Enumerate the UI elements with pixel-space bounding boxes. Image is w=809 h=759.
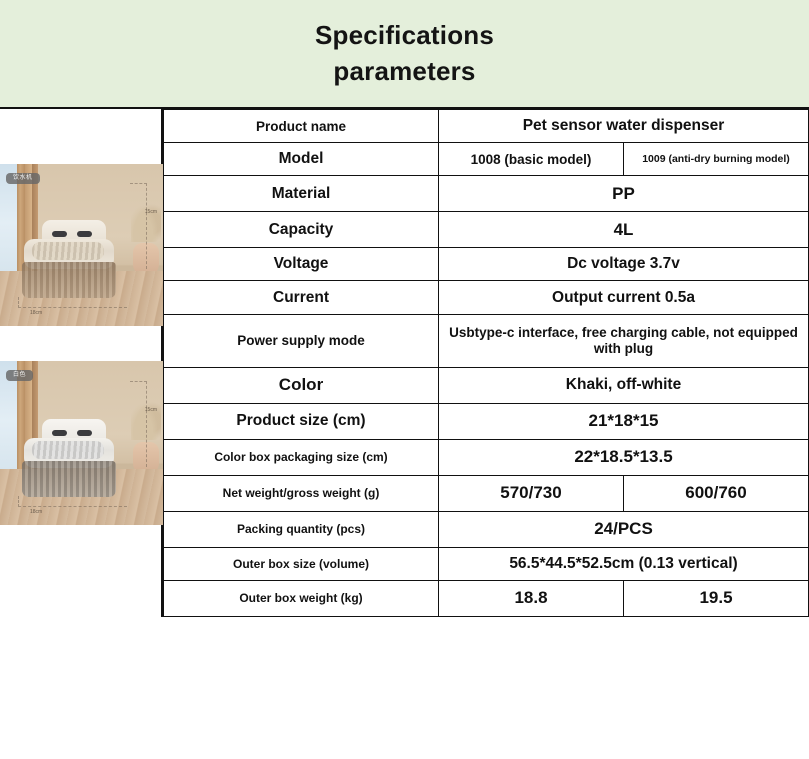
row-value-product-name: Pet sensor water dispenser [439,110,809,143]
dimension-label-height: 15cm [145,209,157,215]
water-surface [32,242,104,260]
table-row: Outer box weight (kg) 18.8 19.5 [164,580,809,616]
product-photo-off-white: 15cm 18cm 白色 [0,361,163,525]
dispenser-tank [22,461,116,497]
sensor-icon [77,430,92,436]
dimension-label-width: 18cm [30,509,42,515]
row-label-packing-quantity: Packing quantity (pcs) [164,511,439,547]
table-row: Power supply mode Usbtype-c interface, f… [164,314,809,367]
row-label-outer-box-size: Outer box size (volume) [164,547,439,580]
row-value-voltage: Dc voltage 3.7v [439,248,809,281]
page-header-banner: Specifications parameters [0,0,809,107]
water-surface [32,441,104,459]
table-row: Current Output current 0.5a [164,281,809,314]
row-value-model-b: 1009 (anti-dry burning model) [624,143,809,176]
product-photo-khaki: 15cm 18cm 饮水机 [0,164,163,326]
row-value-outer-box-weight-b: 19.5 [624,580,809,616]
row-label-net-gross-weight: Net weight/gross weight (g) [164,475,439,511]
dimension-line-horizontal [18,496,127,507]
row-value-net-gross-weight-a: 570/730 [439,475,624,511]
water-dispenser-product [16,419,126,499]
row-label-product-name: Product name [164,110,439,143]
photo-badge: 饮水机 [6,173,40,184]
page-title-line2: parameters [315,54,494,89]
table-row: Capacity 4L [164,212,809,248]
row-label-power-supply-mode: Power supply mode [164,314,439,367]
row-value-outer-box-size: 56.5*44.5*52.5cm (0.13 vertical) [439,547,809,580]
row-label-outer-box-weight: Outer box weight (kg) [164,580,439,616]
sensor-icon [77,231,92,237]
dispenser-tank [22,262,116,298]
photo-scene: 15cm 18cm [0,164,163,326]
row-label-color: Color [164,367,439,403]
row-label-color-box-size: Color box packaging size (cm) [164,439,439,475]
product-image-column: 15cm 18cm 饮水机 [0,109,163,617]
sensor-icon [52,430,67,436]
table-row: Outer box size (volume) 56.5*44.5*52.5cm… [164,547,809,580]
row-value-color-box-size: 22*18.5*13.5 [439,439,809,475]
dimension-line-horizontal [18,297,127,308]
page-title: Specifications parameters [315,18,494,88]
row-label-voltage: Voltage [164,248,439,281]
row-label-product-size: Product size (cm) [164,403,439,439]
row-value-net-gross-weight-b: 600/760 [624,475,809,511]
table-row: Material PP [164,176,809,212]
row-value-outer-box-weight-a: 18.8 [439,580,624,616]
photo-scene: 15cm 18cm [0,361,163,525]
dimension-label-width: 18cm [30,310,42,316]
row-value-product-size: 21*18*15 [439,403,809,439]
row-value-material: PP [439,176,809,212]
table-row: Product name Pet sensor water dispenser [164,110,809,143]
table-row: Color Khaki, off-white [164,367,809,403]
table-row: Model 1008 (basic model) 1009 (anti-dry … [164,143,809,176]
row-value-current: Output current 0.5a [439,281,809,314]
dimension-label-height: 15cm [145,407,157,413]
table-row: Color box packaging size (cm) 22*18.5*13… [164,439,809,475]
spec-body: 15cm 18cm 饮水机 [0,107,809,615]
table-row: Voltage Dc voltage 3.7v [164,248,809,281]
row-value-color: Khaki, off-white [439,367,809,403]
row-label-current: Current [164,281,439,314]
footer-blank-area [0,615,809,757]
row-value-packing-quantity: 24/PCS [439,511,809,547]
dimension-line-vertical [130,381,147,467]
photo-badge: 白色 [6,370,33,381]
water-dispenser-product [16,220,126,300]
table-row: Net weight/gross weight (g) 570/730 600/… [164,475,809,511]
row-value-power-supply-mode: Usbtype-c interface, free charging cable… [439,314,809,367]
dimension-line-vertical [130,183,147,268]
table-row: Packing quantity (pcs) 24/PCS [164,511,809,547]
row-value-capacity: 4L [439,212,809,248]
row-label-capacity: Capacity [164,212,439,248]
row-label-model: Model [164,143,439,176]
row-value-model-a: 1008 (basic model) [439,143,624,176]
row-label-material: Material [164,176,439,212]
table-row: Product size (cm) 21*18*15 [164,403,809,439]
specifications-table: Product name Pet sensor water dispenser … [163,109,809,617]
page-title-line1: Specifications [315,20,494,50]
sensor-icon [52,231,67,237]
